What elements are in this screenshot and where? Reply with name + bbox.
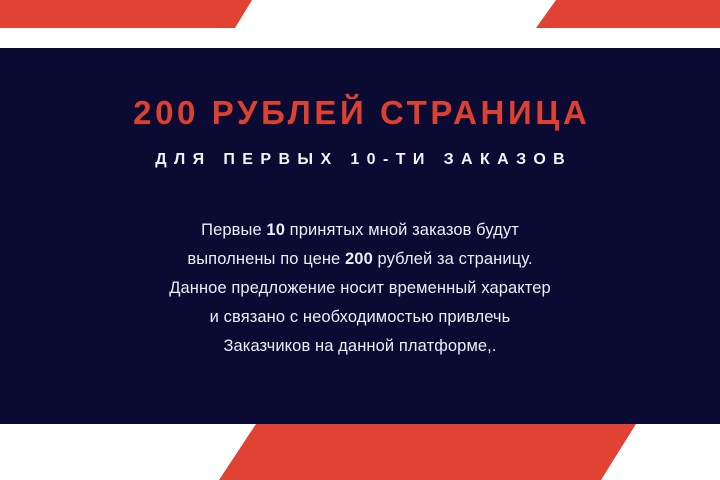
first-orders-count: 10: [266, 221, 285, 239]
price-per-page: 200: [345, 250, 373, 268]
description-line-3: Данное предложение носит временный харак…: [0, 274, 720, 303]
page-title: 200 РУБЛЕЙ СТРАНИЦА: [0, 96, 720, 129]
top-left-red-band-shape: [0, 0, 252, 28]
description-line-2-pre: выполнены по цене: [187, 250, 345, 268]
navy-panel: 200 РУБЛЕЙ СТРАНИЦА ДЛЯ ПЕРВЫХ 10-ТИ ЗАК…: [0, 48, 720, 424]
page-subtitle: ДЛЯ ПЕРВЫХ 10-ТИ ЗАКАЗОВ: [0, 152, 720, 168]
description-line-1: Первые 10 принятых мной заказов будут: [0, 216, 720, 245]
offer-description: Первые 10 принятых мной заказов будут вы…: [0, 216, 720, 361]
description-line-2: выполнены по цене 200 рублей за страницу…: [0, 245, 720, 274]
bottom-red-parallelogram-shape: [219, 424, 636, 480]
description-line-1-post: принятых мной заказов будут: [285, 221, 519, 239]
promo-poster: 200 РУБЛЕЙ СТРАНИЦА ДЛЯ ПЕРВЫХ 10-ТИ ЗАК…: [0, 0, 720, 480]
description-line-4: и связано с необходимостью привлечь: [0, 303, 720, 332]
top-right-red-band-shape: [536, 0, 720, 28]
description-line-1-pre: Первые: [201, 221, 266, 239]
description-line-2-post: рублей за страницу.: [373, 250, 533, 268]
description-line-5: Заказчиков на данной платформе,.: [0, 332, 720, 361]
poster-content: 200 РУБЛЕЙ СТРАНИЦА ДЛЯ ПЕРВЫХ 10-ТИ ЗАК…: [0, 48, 720, 424]
